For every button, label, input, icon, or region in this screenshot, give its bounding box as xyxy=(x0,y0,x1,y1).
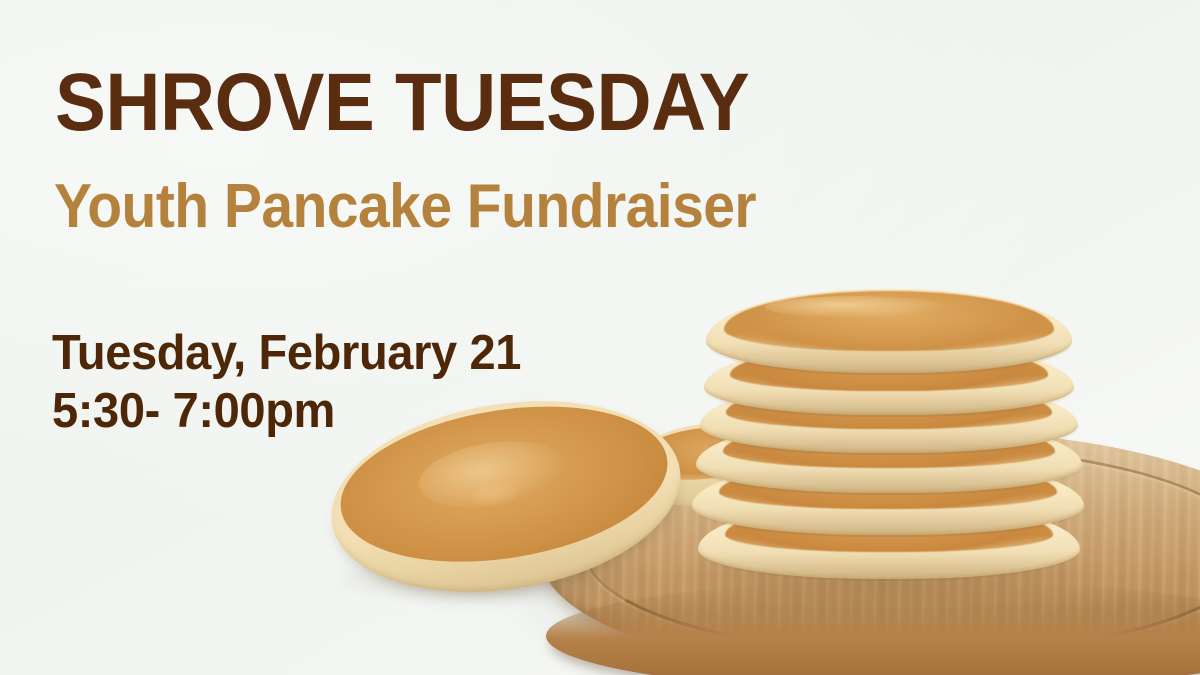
page-title: SHROVE TUESDAY xyxy=(55,64,749,142)
shrove-tuesday-poster: SHROVE TUESDAY Youth Pancake Fundraiser … xyxy=(0,0,1200,675)
poster-text-block: SHROVE TUESDAY Youth Pancake Fundraiser … xyxy=(52,0,952,675)
event-details: Tuesday, February 21 5:30- 7:00pm xyxy=(52,324,541,440)
page-subtitle: Youth Pancake Fundraiser xyxy=(54,176,756,238)
event-date: Tuesday, February 21 xyxy=(52,324,521,382)
event-time: 5:30- 7:00pm xyxy=(52,382,521,440)
